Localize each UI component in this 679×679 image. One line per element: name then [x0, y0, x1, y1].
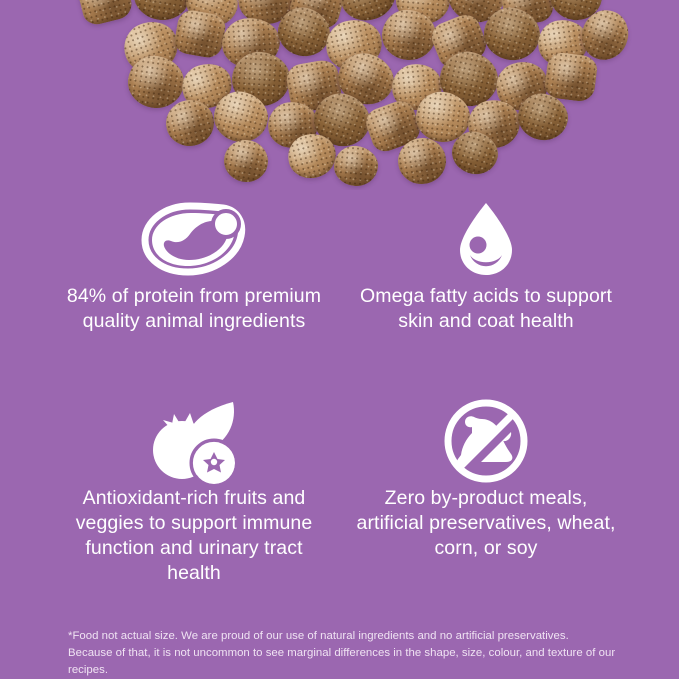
footnote-disclaimer: *Food not actual size. We are proud of o…	[68, 628, 616, 679]
feature-antioxidant: Antioxidant-rich fruits and veggies to s…	[44, 396, 344, 586]
feature-grid: 84% of protein from premium quality anim…	[0, 186, 679, 606]
feature-zero-byproducts: Zero by-product meals, artificial preser…	[336, 396, 636, 561]
water-droplet-smile-icon-wrap	[336, 194, 636, 284]
product-feature-panel: 84% of protein from premium quality anim…	[0, 0, 679, 679]
feature-zero-text: Zero by-product meals, artificial preser…	[336, 486, 636, 561]
feature-antioxidant-text: Antioxidant-rich fruits and veggies to s…	[44, 486, 344, 586]
dog-kibble-photo	[0, 0, 679, 190]
berries-fruit-leaf-icon	[145, 398, 243, 484]
meat-cut-icon-wrap	[44, 194, 344, 284]
no-poultry-by-product-icon-wrap	[336, 396, 636, 486]
water-droplet-smile-icon	[456, 200, 516, 278]
feature-protein-text: 84% of protein from premium quality anim…	[44, 284, 344, 334]
meat-cut-icon	[138, 198, 250, 280]
berries-fruit-leaf-icon-wrap	[44, 396, 344, 486]
feature-protein: 84% of protein from premium quality anim…	[44, 194, 344, 334]
no-poultry-by-product-icon	[444, 399, 528, 483]
feature-omega: Omega fatty acids to support skin and co…	[336, 194, 636, 334]
feature-omega-text: Omega fatty acids to support skin and co…	[336, 284, 636, 334]
